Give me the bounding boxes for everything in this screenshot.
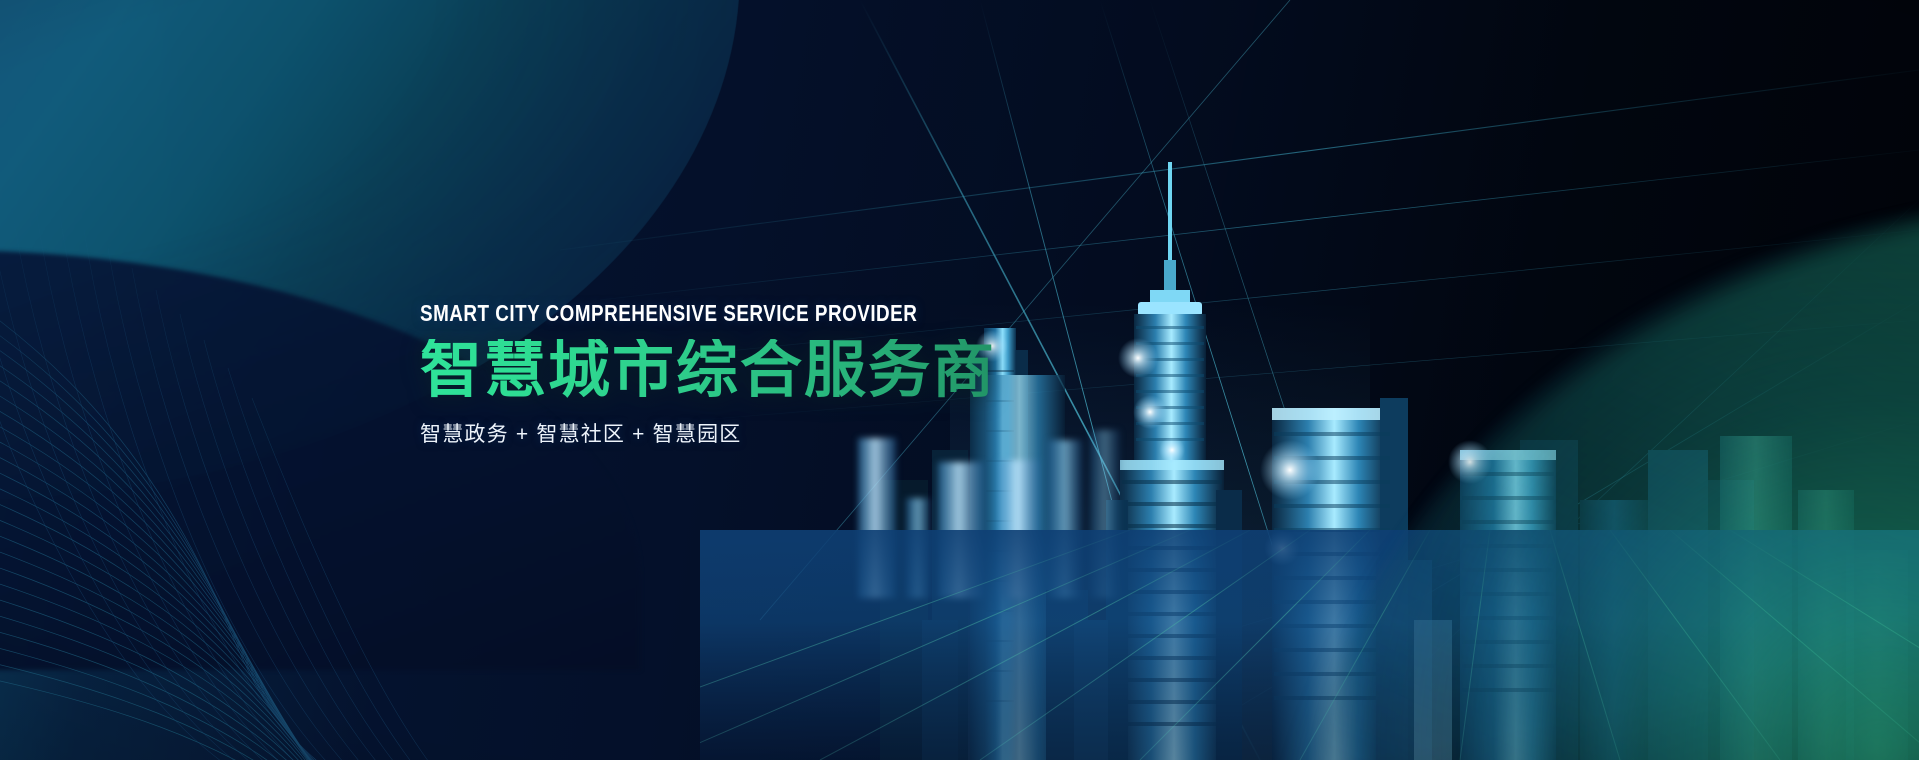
banner-subtitle: 智慧政务 + 智慧社区 + 智慧园区 [420,418,1140,448]
hero-text-block: SMART CITY COMPREHENSIVE SERVICE PROVIDE… [420,300,1140,448]
page-title: 智慧城市综合服务商 [420,339,1140,402]
smart-city-hero-banner: SMART CITY COMPREHENSIVE SERVICE PROVIDE… [0,0,1919,760]
banner-eyebrow: SMART CITY COMPREHENSIVE SERVICE PROVIDE… [420,300,1010,327]
